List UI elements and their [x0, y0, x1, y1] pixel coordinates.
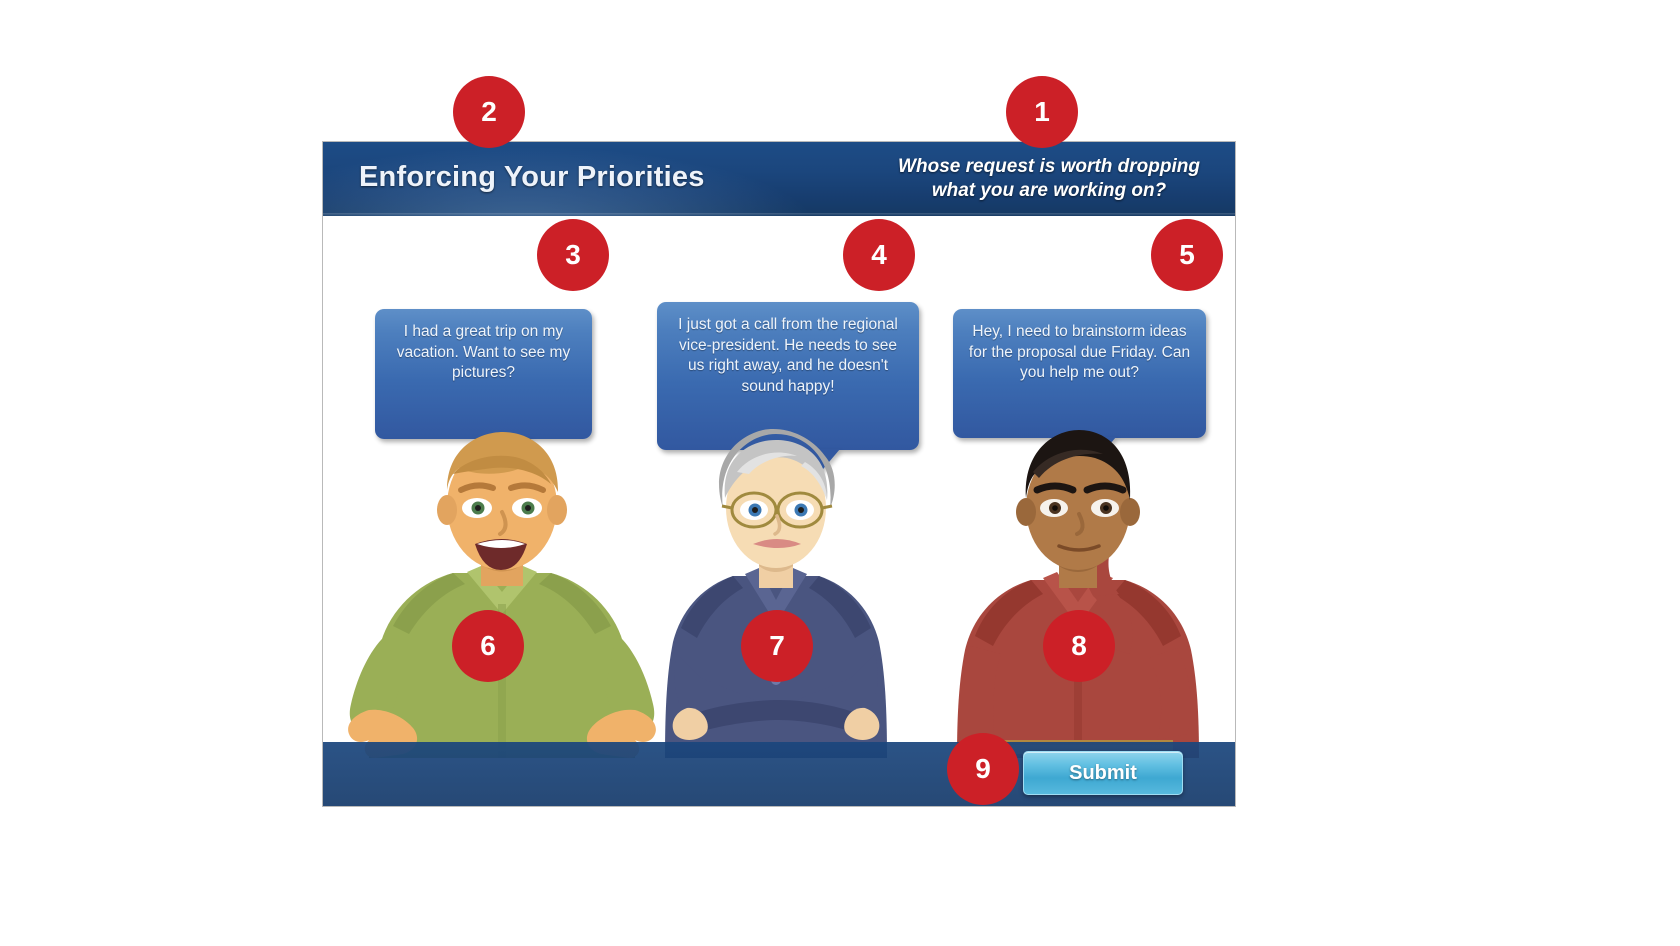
callout-marker-4: 4: [843, 219, 915, 291]
callout-marker-7-number: 7: [769, 630, 785, 662]
callout-marker-5-number: 5: [1179, 239, 1195, 271]
elearning-slide: Enforcing Your Priorities Whose request …: [322, 141, 1236, 807]
woman-gray-hair-illustration: [641, 428, 911, 758]
man-red-shirt-illustration: [933, 428, 1223, 758]
callout-marker-6-number: 6: [480, 630, 496, 662]
callout-marker-8: 8: [1043, 610, 1115, 682]
callout-marker-6: 6: [452, 610, 524, 682]
character-man-green-shirt[interactable]: [347, 428, 657, 758]
callout-marker-4-number: 4: [871, 239, 887, 271]
callout-marker-8-number: 8: [1071, 630, 1087, 662]
character-man-red-shirt[interactable]: [933, 428, 1223, 758]
submit-button[interactable]: Submit: [1023, 751, 1183, 795]
character-woman-gray-hair[interactable]: [641, 428, 911, 758]
speech-bubble-1[interactable]: I had a great trip on my vacation. Want …: [375, 309, 592, 439]
speech-bubble-3-text: Hey, I need to brainstorm ideas for the …: [969, 323, 1190, 381]
speech-bubble-2-text: I just got a call from the regional vice…: [678, 316, 898, 395]
callout-marker-1: 1: [1006, 76, 1078, 148]
callout-marker-9: 9: [947, 733, 1019, 805]
callout-marker-5: 5: [1151, 219, 1223, 291]
callout-marker-2: 2: [453, 76, 525, 148]
callout-marker-7: 7: [741, 610, 813, 682]
callout-marker-3: 3: [537, 219, 609, 291]
callout-marker-2-number: 2: [481, 96, 497, 128]
page-title: Enforcing Your Priorities: [359, 161, 705, 194]
speech-bubble-3[interactable]: Hey, I need to brainstorm ideas for the …: [953, 309, 1206, 438]
speech-bubble-1-text: I had a great trip on my vacation. Want …: [397, 323, 570, 381]
slide-header: Enforcing Your Priorities Whose request …: [323, 142, 1235, 216]
man-green-shirt-illustration: [347, 428, 657, 758]
slide-footer: Submit: [323, 742, 1235, 806]
callout-marker-9-number: 9: [975, 753, 991, 785]
callout-marker-1-number: 1: [1034, 96, 1050, 128]
question-text: Whose request is worth dropping what you…: [879, 155, 1219, 203]
callout-marker-3-number: 3: [565, 239, 581, 271]
